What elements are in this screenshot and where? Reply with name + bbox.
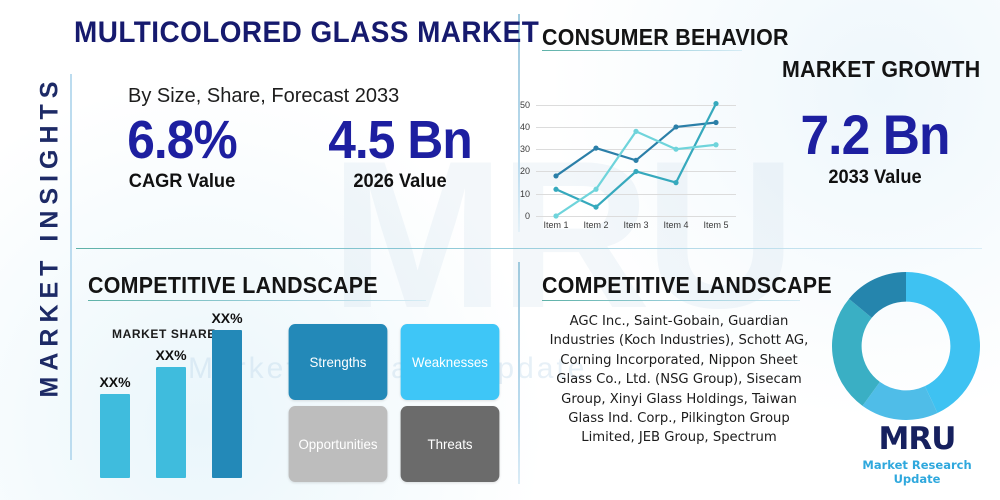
market-share-bar-label: XX% <box>211 310 242 326</box>
infographic-root: MRU Market Research Update MARKET INSIGH… <box>0 0 1000 500</box>
swot-box-opportunities[interactable]: Opportunities <box>289 406 388 482</box>
swot-box-weaknesses[interactable]: Weaknesses <box>401 324 500 400</box>
market-share-bar-chart: XX%XX%XX% <box>100 330 280 478</box>
section-underline-competitive-landscape-left <box>88 300 426 301</box>
line-chart-plot <box>536 98 736 216</box>
stat-cagr-value: 6.8% <box>103 112 261 169</box>
brand-logo-tagline: Market Research Update <box>852 458 982 486</box>
swot-label-strengths: Strengths <box>310 354 367 370</box>
line-chart-y-tick: 40 <box>520 122 536 132</box>
market-share-bar <box>156 367 186 478</box>
stat-cagr: 6.8% CAGR Value <box>96 112 268 193</box>
brand-logo-text: MRU <box>879 421 956 457</box>
line-chart-y-tick: 20 <box>520 166 536 176</box>
line-chart-y-tick: 10 <box>520 189 536 199</box>
line-chart-y-tick: 0 <box>525 211 536 221</box>
page-subtitle: By Size, Share, Forecast 2033 <box>128 85 399 108</box>
line-chart-x-tick: Item 4 <box>663 220 688 230</box>
brand-logo: MRU Market Research Update <box>852 424 982 486</box>
line-chart-x-tick: Item 3 <box>623 220 648 230</box>
section-title-consumer-behavior: CONSUMER BEHAVIOR <box>542 24 789 51</box>
stat-2033-value: 7.2 Bn <box>789 106 960 165</box>
section-title-market-growth: MARKET GROWTH <box>782 56 980 83</box>
section-title-competitive-landscape-left: COMPETITIVE LANDSCAPE <box>88 272 378 299</box>
section-underline-consumer-behavior <box>542 50 742 51</box>
line-chart-y-tick: 30 <box>520 144 536 154</box>
market-share-bar <box>212 330 242 478</box>
stat-2033: 7.2 Bn 2033 Value <box>782 106 968 189</box>
section-underline-competitive-landscape-right <box>542 300 800 301</box>
market-share-bar-label: XX% <box>155 347 186 363</box>
vertical-divider-bottom <box>518 262 520 484</box>
line-chart-x-tick: Item 1 <box>543 220 568 230</box>
consumer-behavior-line-chart: 01020304050Item 1Item 2Item 3Item 4Item … <box>536 98 736 216</box>
stat-cagr-caption: CAGR Value <box>99 171 264 193</box>
donut-chart-plot <box>832 272 980 420</box>
line-chart-x-tick: Item 2 <box>583 220 608 230</box>
section-title-competitive-landscape-right: COMPETITIVE LANDSCAPE <box>542 272 832 299</box>
swot-box-strengths[interactable]: Strengths <box>289 324 388 400</box>
market-share-bar <box>100 394 130 478</box>
company-list: AGC Inc., Saint-Gobain, Guardian Industr… <box>544 312 814 448</box>
swot-box-threats[interactable]: Threats <box>401 406 500 482</box>
stat-2026: 4.5 Bn 2026 Value <box>312 112 488 193</box>
sidebar-divider <box>70 74 72 460</box>
horizontal-divider <box>76 248 982 249</box>
page-title: MULTICOLORED GLASS MARKET <box>74 16 539 50</box>
stat-2026-value: 4.5 Bn <box>319 112 481 169</box>
line-chart-gridline <box>536 216 736 217</box>
line-chart-y-tick: 50 <box>520 100 536 110</box>
stat-2033-caption: 2033 Value <box>786 167 965 189</box>
sidebar-label-market-insights: MARKET INSIGHTS <box>36 27 65 447</box>
swot-label-weaknesses: Weaknesses <box>412 354 488 370</box>
stat-2026-caption: 2026 Value <box>316 171 485 193</box>
market-share-bar-label: XX% <box>99 374 130 390</box>
brand-logo-mark: MRU <box>852 424 982 455</box>
competitive-landscape-donut <box>832 272 980 420</box>
swot-label-opportunities: Opportunities <box>298 436 377 452</box>
line-chart-x-tick: Item 5 <box>703 220 728 230</box>
swot-label-threats: Threats <box>427 436 472 452</box>
